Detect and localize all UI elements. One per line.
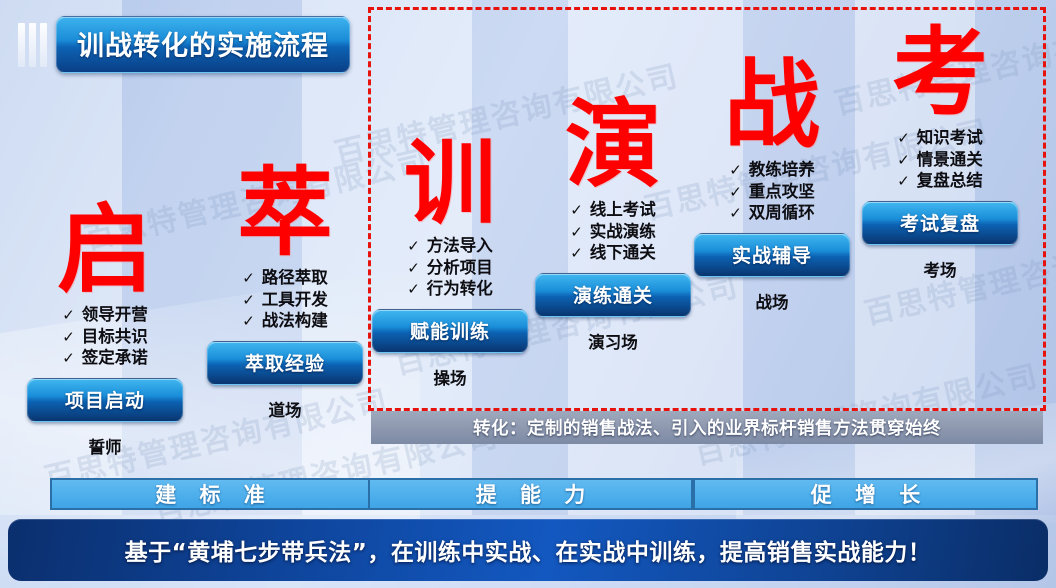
- stage-action-pill-qi[interactable]: 项目启动: [27, 378, 183, 422]
- list-item-label: 签定承诺: [82, 347, 148, 368]
- stage-action-pill-zhan[interactable]: 实战辅导: [694, 233, 850, 277]
- list-item: ✓双周循环: [729, 202, 815, 224]
- list-item-label: 领导开营: [82, 304, 148, 325]
- list-item: ✓战法构建: [242, 310, 328, 332]
- check-icon: ✓: [570, 223, 583, 243]
- slide-canvas: 百思特管理咨询有限公司 百思特管理咨询有限公司 百思特管理咨询有限公司 百思特管…: [0, 0, 1056, 588]
- stage-venue-label: 道场: [200, 397, 370, 421]
- check-icon: ✓: [407, 237, 420, 257]
- stage-column-kao: 考 ✓知识考试 ✓情景通关 ✓复盘总结 考试复盘 考场: [855, 28, 1025, 281]
- stage-big-char: 萃: [200, 168, 370, 259]
- list-item: ✓情景通关: [897, 149, 983, 171]
- stage-big-char: 训: [365, 140, 535, 227]
- list-item-label: 双周循环: [749, 202, 815, 223]
- list-item: ✓工具开发: [242, 289, 328, 311]
- check-icon: ✓: [62, 328, 75, 348]
- stage-bullet-list: ✓线上考试 ✓实战演练 ✓线下通关: [570, 199, 656, 264]
- list-item: ✓签定承诺: [62, 347, 148, 369]
- check-icon: ✓: [242, 291, 255, 311]
- list-item: ✓领导开营: [62, 304, 148, 326]
- transformation-banner: 转化：定制的销售战法、引入的业界标杆销售方法贯穿始终: [371, 411, 1043, 444]
- list-item: ✓线上考试: [570, 199, 656, 221]
- check-icon: ✓: [242, 312, 255, 332]
- list-item-label: 复盘总结: [917, 170, 983, 191]
- stage-venue-label: 战场: [687, 289, 857, 313]
- list-item: ✓行为转化: [407, 278, 493, 300]
- stage-big-char: 考: [855, 28, 1025, 119]
- check-icon: ✓: [897, 129, 910, 149]
- list-item-label: 行为转化: [427, 278, 493, 299]
- list-item: ✓路径萃取: [242, 267, 328, 289]
- check-icon: ✓: [407, 280, 420, 300]
- stage-bullet-list: ✓路径萃取 ✓工具开发 ✓战法构建: [242, 267, 328, 332]
- stage-action-pill-cui[interactable]: 萃取经验: [207, 341, 363, 385]
- check-icon: ✓: [570, 201, 583, 221]
- stage-action-pill-yan[interactable]: 演练通关: [535, 273, 691, 317]
- stage-action-pill-xun[interactable]: 赋能训练: [372, 309, 528, 353]
- check-icon: ✓: [62, 349, 75, 369]
- list-item-label: 线下通关: [590, 242, 656, 263]
- list-item-label: 实战演练: [590, 221, 656, 242]
- list-item-label: 方法导入: [427, 235, 493, 256]
- stage-column-qi: 启 ✓领导开营 ✓目标共识 ✓签定承诺 项目启动 誓师: [20, 205, 190, 458]
- list-item-label: 分析项目: [427, 257, 493, 278]
- stage-big-char: 启: [20, 205, 190, 296]
- list-item-label: 工具开发: [262, 289, 328, 310]
- list-item: ✓目标共识: [62, 326, 148, 348]
- check-icon: ✓: [729, 204, 742, 224]
- check-icon: ✓: [62, 306, 75, 326]
- list-item-label: 重点攻坚: [749, 181, 815, 202]
- check-icon: ✓: [242, 269, 255, 289]
- check-icon: ✓: [729, 161, 742, 181]
- stage-bullet-list: ✓知识考试 ✓情景通关 ✓复盘总结: [897, 127, 983, 192]
- stripe-decoration-icon: [18, 23, 47, 67]
- summary-banner: 基于“黄埔七步带兵法”，在训练中实战、在实战中训练，提高销售实战能力！: [8, 519, 1048, 581]
- stage-bullet-list: ✓方法导入 ✓分析项目 ✓行为转化: [407, 235, 493, 300]
- list-item: ✓教练培养: [729, 159, 815, 181]
- check-icon: ✓: [570, 244, 583, 264]
- stage-venue-label: 誓师: [20, 434, 190, 458]
- stage-bullet-list: ✓教练培养 ✓重点攻坚 ✓双周循环: [729, 159, 815, 224]
- category-bar-cuzengzhang[interactable]: 促 增 长: [693, 478, 1038, 510]
- stage-action-pill-kao[interactable]: 考试复盘: [862, 201, 1018, 245]
- check-icon: ✓: [897, 172, 910, 192]
- list-item-label: 知识考试: [917, 127, 983, 148]
- list-item: ✓重点攻坚: [729, 181, 815, 203]
- list-item-label: 路径萃取: [262, 267, 328, 288]
- category-bar-tinengli[interactable]: 提 能 力: [368, 478, 693, 510]
- check-icon: ✓: [897, 151, 910, 171]
- stage-big-char: 演: [528, 100, 698, 191]
- check-icon: ✓: [729, 183, 742, 203]
- page-title: 训战转化的实施流程: [18, 16, 350, 73]
- stage-column-xun: 训 ✓方法导入 ✓分析项目 ✓行为转化 赋能训练 操场: [365, 140, 535, 389]
- list-item: ✓知识考试: [897, 127, 983, 149]
- category-bar-jianbiaozhun[interactable]: 建 标 准: [50, 478, 370, 510]
- check-icon: ✓: [407, 259, 420, 279]
- stage-column-yan: 演 ✓线上考试 ✓实战演练 ✓线下通关 演练通关 演习场: [528, 100, 698, 353]
- stage-column-cui: 萃 ✓路径萃取 ✓工具开发 ✓战法构建 萃取经验 道场: [200, 168, 370, 421]
- list-item: ✓方法导入: [407, 235, 493, 257]
- stage-venue-label: 考场: [855, 257, 1025, 281]
- list-item-label: 教练培养: [749, 159, 815, 180]
- page-title-label: 训战转化的实施流程: [56, 16, 350, 73]
- list-item: ✓实战演练: [570, 221, 656, 243]
- stage-column-zhan: 战 ✓教练培养 ✓重点攻坚 ✓双周循环 实战辅导 战场: [687, 60, 857, 313]
- list-item-label: 情景通关: [917, 149, 983, 170]
- list-item-label: 目标共识: [82, 326, 148, 347]
- stage-venue-label: 操场: [365, 365, 535, 389]
- stage-bullet-list: ✓领导开营 ✓目标共识 ✓签定承诺: [62, 304, 148, 369]
- list-item-label: 线上考试: [590, 199, 656, 220]
- stage-big-char: 战: [687, 60, 857, 151]
- stage-venue-label: 演习场: [528, 329, 698, 353]
- list-item: ✓复盘总结: [897, 170, 983, 192]
- list-item: ✓线下通关: [570, 242, 656, 264]
- list-item-label: 战法构建: [262, 310, 328, 331]
- list-item: ✓分析项目: [407, 257, 493, 279]
